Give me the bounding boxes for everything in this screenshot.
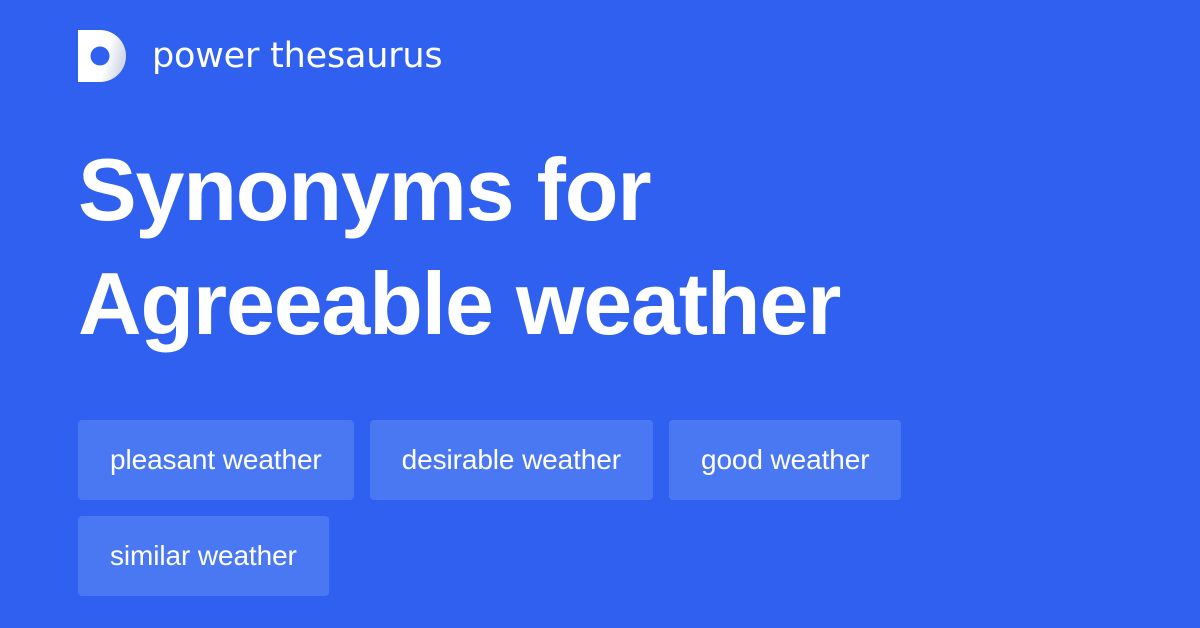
share-card: power thesaurus Synonyms for Agreeable w… [0, 0, 1200, 628]
page-title: Synonyms for Agreeable weather [78, 133, 1078, 361]
synonym-chip[interactable]: similar weather [78, 516, 329, 596]
synonym-chip-list: pleasant weather desirable weather good … [78, 420, 1128, 596]
synonym-chip[interactable]: good weather [669, 420, 901, 500]
synonym-chip[interactable]: desirable weather [370, 420, 653, 500]
brand-logo[interactable]: power thesaurus [78, 28, 442, 84]
power-thesaurus-b-logo-icon [78, 30, 126, 82]
brand-name: power thesaurus [152, 39, 442, 74]
synonym-chip[interactable]: pleasant weather [78, 420, 354, 500]
